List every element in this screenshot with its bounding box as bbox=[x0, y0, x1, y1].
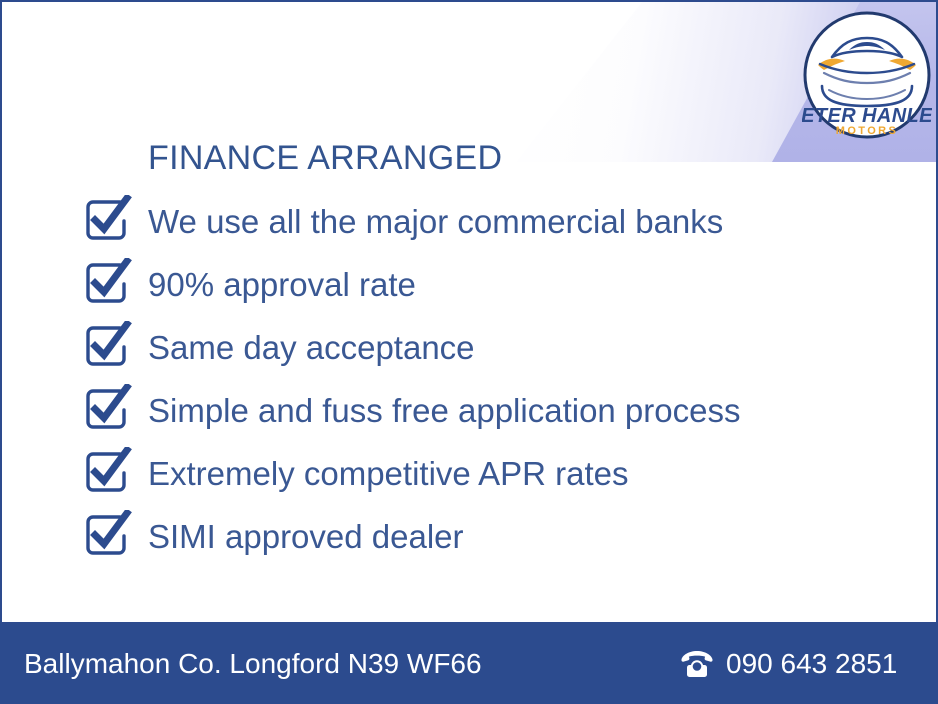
list-item-label: SIMI approved dealer bbox=[148, 517, 464, 557]
checkbox-checked-icon bbox=[82, 321, 134, 371]
list-item-label: Simple and fuss free application process bbox=[148, 391, 741, 431]
list-item-label: Extremely competitive APR rates bbox=[148, 454, 629, 494]
checkbox-checked-icon bbox=[82, 258, 134, 308]
peter-hanley-motors-logo: PETER HANLEY MOTORS bbox=[802, 10, 932, 140]
list-item: We use all the major commercial banks bbox=[82, 190, 912, 253]
phone-number: 090 643 2851 bbox=[726, 646, 897, 682]
footer-bar: Ballymahon Co. Longford N39 WF66 090 643… bbox=[0, 624, 938, 704]
telephone-icon bbox=[680, 649, 714, 679]
list-item-label: Same day acceptance bbox=[148, 328, 475, 368]
phone-contact[interactable]: 090 643 2851 bbox=[680, 646, 897, 682]
checkbox-checked-icon bbox=[82, 195, 134, 245]
list-item: 90% approval rate bbox=[82, 253, 912, 316]
feature-list: We use all the major commercial banks 90… bbox=[82, 190, 912, 568]
logo-wordmark-secondary: MOTORS bbox=[836, 125, 898, 137]
logo-wordmark-primary: PETER HANLEY bbox=[802, 105, 932, 127]
content-panel: PETER HANLEY MOTORS FINANCE ARRANGED We … bbox=[0, 0, 938, 624]
checkbox-checked-icon bbox=[82, 447, 134, 497]
checkbox-checked-icon bbox=[82, 384, 134, 434]
list-item: Extremely competitive APR rates bbox=[82, 442, 912, 505]
list-item: Same day acceptance bbox=[82, 316, 912, 379]
list-item-label: We use all the major commercial banks bbox=[148, 202, 723, 242]
list-item: SIMI approved dealer bbox=[82, 505, 912, 568]
page-title: FINANCE ARRANGED bbox=[148, 136, 502, 180]
address-text: Ballymahon Co. Longford N39 WF66 bbox=[24, 646, 482, 682]
list-item: Simple and fuss free application process bbox=[82, 379, 912, 442]
checkbox-checked-icon bbox=[82, 510, 134, 560]
finance-arranged-poster: PETER HANLEY MOTORS FINANCE ARRANGED We … bbox=[0, 0, 938, 704]
list-item-label: 90% approval rate bbox=[148, 265, 416, 305]
